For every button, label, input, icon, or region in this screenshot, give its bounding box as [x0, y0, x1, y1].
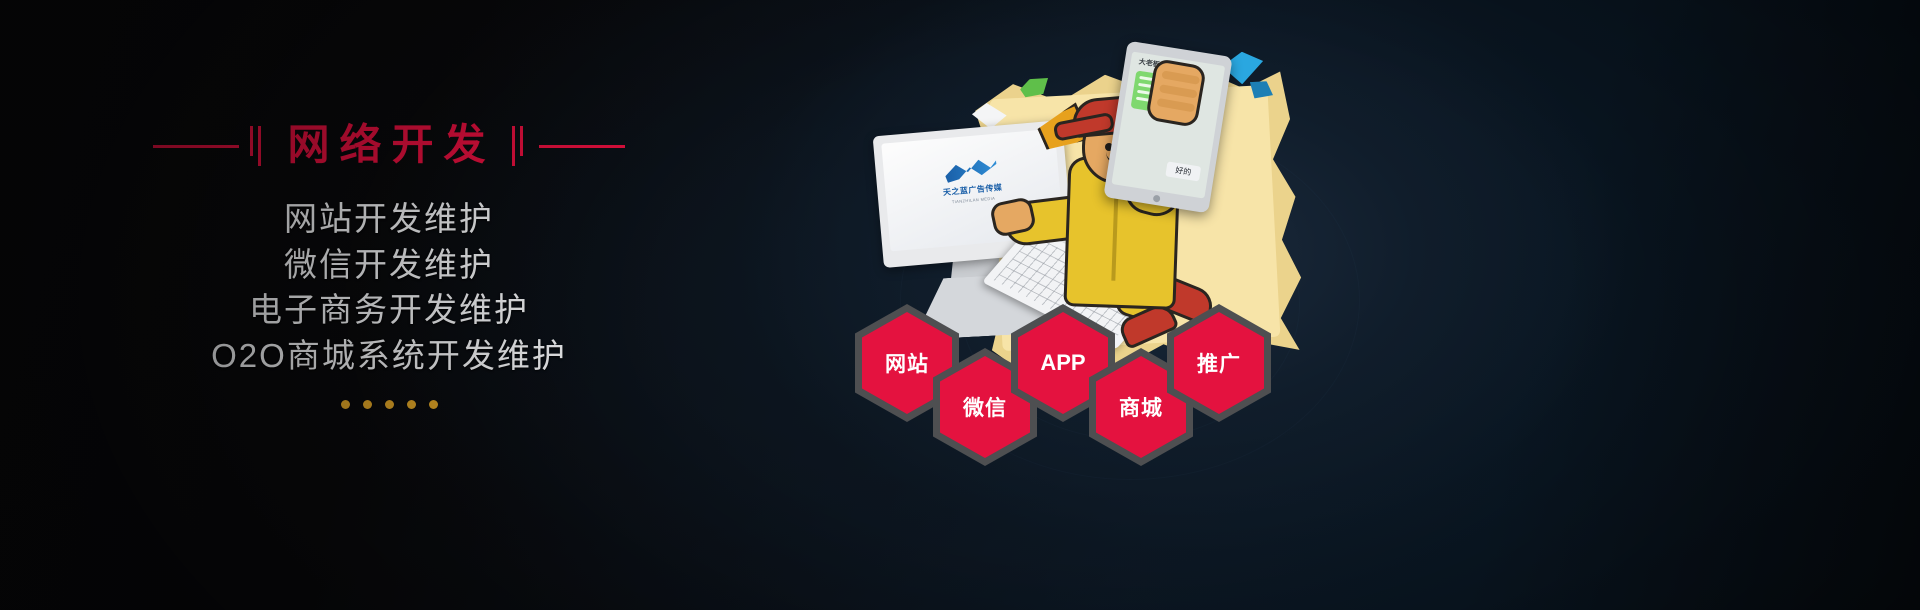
title-bar-icon [512, 126, 515, 166]
service-list: 网站开发维护 微信开发维护 电子商务开发维护 O2O商城系统开发维护 [18, 196, 760, 378]
title-bar-icon [258, 126, 261, 166]
title-rule-left [153, 145, 239, 148]
dot-icon [429, 400, 438, 409]
decorative-dots [18, 400, 760, 409]
web-development-banner: 网络开发 网站开发维护 微信开发维护 电子商务开发维护 O2O商城系统开发维护 [0, 0, 1920, 610]
chat-bubble-reply: 好的 [1165, 161, 1201, 181]
character-right-hand [1145, 58, 1207, 128]
page-title: 网络开发 [277, 125, 495, 167]
dot-icon [385, 400, 394, 409]
service-line: 网站开发维护 [18, 196, 760, 242]
title-bars-right [512, 126, 523, 166]
badge-inner: 推广 [1174, 312, 1264, 414]
title-rule-right [539, 145, 625, 148]
finger-icon [1156, 98, 1195, 112]
service-line: O2O商城系统开发维护 [18, 333, 760, 379]
dot-icon [363, 400, 372, 409]
title-bar-icon [520, 126, 523, 156]
badge-label: 推广 [1197, 348, 1241, 378]
finger-icon [1161, 70, 1200, 84]
title-row: 网络开发 [18, 118, 760, 174]
dot-icon [407, 400, 416, 409]
monitor-logo: 天之蓝广告传媒 TIANZHILAN MEDIA [931, 152, 1013, 206]
service-badges: 网站 微信 APP 商城 推广 [845, 300, 1315, 435]
tablet-home-button-icon [1153, 195, 1161, 203]
badge-label: 网站 [885, 348, 929, 378]
dot-icon [341, 400, 350, 409]
service-line: 电子商务开发维护 [18, 287, 760, 333]
logo-swoosh-icon [944, 154, 998, 184]
finger-icon [1159, 84, 1198, 98]
service-line: 微信开发维护 [18, 242, 760, 288]
badge-label: 商城 [1119, 392, 1163, 422]
banner-text-block: 网络开发 网站开发维护 微信开发维护 电子商务开发维护 O2O商城系统开发维护 [0, 118, 760, 409]
badge-label: 微信 [963, 392, 1007, 422]
title-bars-left [250, 126, 261, 166]
badge-label: APP [1040, 350, 1085, 376]
title-bar-icon [250, 126, 253, 156]
